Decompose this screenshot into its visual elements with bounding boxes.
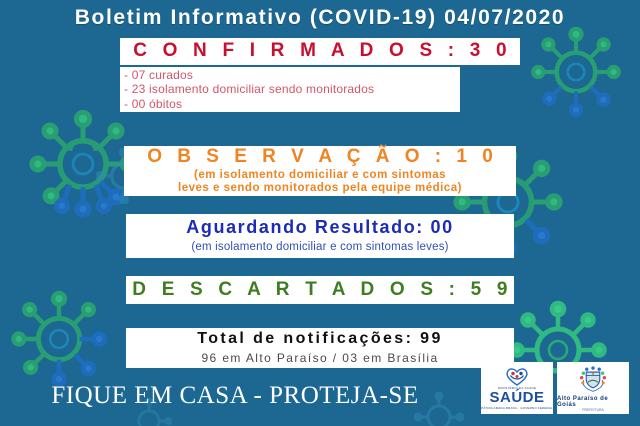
observacao-subline-2: leves e sendo monitorados pela equipe mé…: [178, 182, 462, 196]
logo-strip: MINISTÉRIO DA SAÚDE SAÚDE PÁTRIA AMADA B…: [481, 362, 629, 414]
total-headline: Total de notificações: 99: [197, 330, 443, 349]
virus-graphic-right-upper: [530, 26, 622, 118]
aguardando-subline: (em isolamento domiciliar e com sintomas…: [191, 241, 448, 255]
saude-heart-family-icon: [504, 366, 530, 386]
aguardando-headline: Aguardando Resultado: 00: [186, 217, 453, 238]
logo-ministerio-saude: MINISTÉRIO DA SAÚDE SAÚDE PÁTRIA AMADA B…: [481, 362, 553, 414]
card-observacao: O B S E R V A Ç Ã O : 1 0 (em isolamento…: [124, 146, 516, 196]
page-title: Boletim Informativo (COVID-19) 04/07/202…: [0, 6, 640, 30]
observacao-subline-1: (em isolamento domiciliar e com sintomas: [194, 169, 446, 183]
confirmados-headline: C O N F I R M A D O S : 3 0: [128, 40, 512, 62]
card-descartados: D E S C A R T A D O S : 5 9: [126, 276, 514, 304]
confirmados-detail-isolamento: - 23 isolamento domiciliar sendo monitor…: [124, 82, 374, 96]
municipio-wordmark: Alto Paraíso de Goiás: [557, 396, 629, 408]
covid-bulletin-poster: Boletim Informativo (COVID-19) 04/07/202…: [0, 0, 640, 426]
virus-graphic-left-upper: [28, 108, 138, 220]
saude-wordmark: SAÚDE: [489, 390, 544, 405]
coat-of-arms-icon: [576, 365, 610, 395]
municipio-footer: PREFEITURA: [582, 408, 603, 412]
logo-alto-paraiso-de-goias: Alto Paraíso de Goiás PREFEITURA: [557, 362, 629, 414]
card-confirmados: C O N F I R M A D O S : 3 0: [120, 38, 520, 65]
saude-footer: PÁTRIA AMADA BRASIL · GOVERNO FEDERAL: [481, 406, 553, 410]
descartados-headline: D E S C A R T A D O S : 5 9: [127, 279, 512, 301]
confirmados-detail-curados: - 07 curados: [124, 68, 193, 82]
virus-graphic-left-lower: [10, 290, 108, 388]
card-confirmados-details: - 07 curados - 23 isolamento domiciliar …: [120, 67, 460, 112]
card-total-notificacoes: Total de notificações: 99 96 em Alto Par…: [126, 328, 514, 368]
confirmados-detail-obitos: - 00 óbitos: [124, 97, 182, 111]
slogan: FIQUE EM CASA - PROTEJA-SE: [0, 382, 470, 410]
total-subline: 96 em Alto Paraíso / 03 em Brasília: [201, 351, 438, 365]
observacao-headline: O B S E R V A Ç Ã O : 1 0: [142, 146, 498, 168]
card-aguardando-resultado: Aguardando Resultado: 00 (em isolamento …: [126, 214, 514, 258]
